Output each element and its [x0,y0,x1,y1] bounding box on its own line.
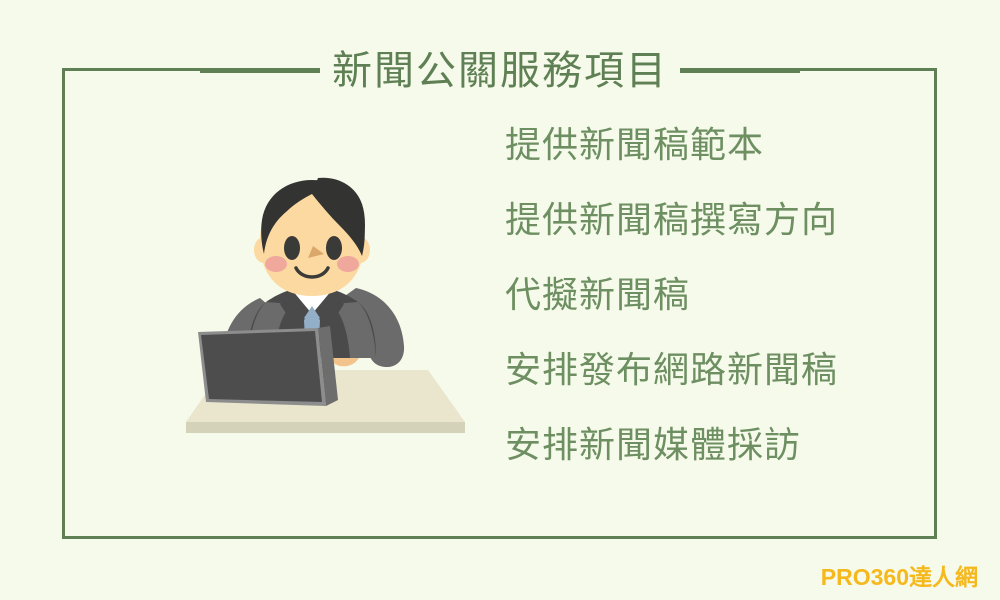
list-item: 代擬新聞稿 [505,278,905,316]
laptop-icon [198,326,338,406]
list-item: 提供新聞稿範本 [505,128,905,166]
right-cheek-icon [337,256,359,272]
list-item: 提供新聞稿撰寫方向 [505,203,905,241]
list-item: 安排發布網路新聞稿 [505,353,905,391]
left-cheek-icon [265,256,287,272]
businessman-laptop-illustration [170,170,480,450]
title-band: 新聞公關服務項目 [0,40,1000,102]
right-eye-icon [326,236,342,260]
page-title: 新聞公關服務項目 [320,51,680,91]
left-eye-icon [284,236,300,260]
service-list: 提供新聞稿範本 提供新聞稿撰寫方向 代擬新聞稿 安排發布網路新聞稿 安排新聞媒體… [505,128,905,466]
title-rule-left-icon [200,69,320,73]
list-item: 安排新聞媒體採訪 [505,428,905,466]
title-rule-right-icon [680,69,800,73]
poster-canvas: 新聞公關服務項目 提供新聞稿範本 提供新聞稿撰寫方向 代擬新聞稿 安排發布網路新… [0,0,1000,600]
watermark-label: PRO360達人網 [821,558,978,592]
